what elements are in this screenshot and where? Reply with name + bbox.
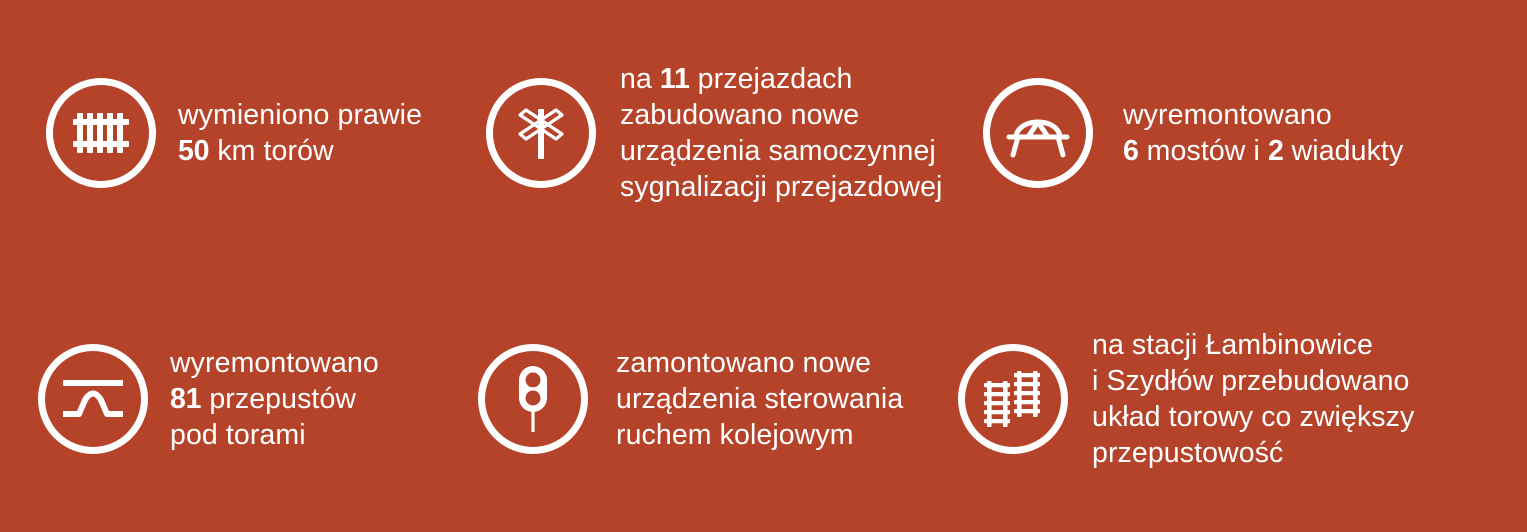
stat-text-part: pod torami (170, 419, 306, 451)
stat-text-part: km torów (209, 135, 333, 167)
stat-line: sygnalizacji przejazdowej (620, 169, 943, 205)
stat-text-part: wiadukty (1284, 135, 1404, 167)
stat-item-station-layout: na stacji Łambinowicei Szydłów przebudow… (958, 266, 1527, 532)
stat-line: przepustowość (1092, 435, 1414, 471)
stat-text-part: na stacji Łambinowice (1092, 329, 1373, 361)
stat-line: urządzenia sterowania (616, 381, 903, 417)
stat-item-culverts: wyremontowano81 przepustówpod torami (0, 266, 468, 532)
stat-text-track-km: wymieniono prawie50 km torów (178, 97, 422, 169)
stat-text-bridges: wyremontowano6 mostów i 2 wiadukty (1123, 97, 1403, 169)
stat-text-part: zamontowano nowe (616, 347, 871, 379)
arch-bridge-icon (983, 78, 1093, 188)
stat-text-part: przejazdach (690, 63, 853, 95)
stat-text-level-crossings: na 11 przejazdachzabudowano noweurządzen… (620, 61, 943, 205)
railway-track-icon (46, 78, 156, 188)
stat-line: zamontowano nowe (616, 345, 903, 381)
stat-text-part: wyremontowano (170, 347, 379, 379)
stat-item-bridges: wyremontowano6 mostów i 2 wiadukty (958, 0, 1527, 266)
stat-line: 6 mostów i 2 wiadukty (1123, 133, 1403, 169)
stat-text-part: urządzenia sterowania (616, 383, 903, 415)
stat-text-part: zabudowano nowe (620, 99, 859, 131)
stat-line: zabudowano nowe (620, 97, 943, 133)
stat-number: 2 (1268, 135, 1284, 167)
stat-line: układ torowy co zwiększy (1092, 399, 1414, 435)
station-track-layout-icon (958, 344, 1068, 454)
stat-line: pod torami (170, 417, 379, 453)
stat-text-part: wymieniono prawie (178, 99, 422, 131)
stat-text-part: i Szydłów przebudowano (1092, 365, 1409, 397)
stat-item-level-crossings: na 11 przejazdachzabudowano noweurządzen… (468, 0, 958, 266)
stat-text-part: przepustów (201, 383, 356, 415)
level-crossing-cross-icon (486, 78, 596, 188)
stat-number: 81 (170, 383, 201, 415)
stat-line: 81 przepustów (170, 381, 379, 417)
stat-item-signalling: zamontowano noweurządzenia sterowaniaruc… (468, 266, 958, 532)
railway-statistics-infographic: wymieniono prawie50 km torów na 11 przej… (0, 0, 1527, 532)
stat-text-part: na (620, 63, 660, 95)
stat-text-part: ruchem kolejowym (616, 419, 854, 451)
culvert-icon (38, 344, 148, 454)
stat-line: urządzenia samoczynnej (620, 133, 943, 169)
stat-text-part: układ torowy co zwiększy (1092, 401, 1414, 433)
stat-text-part: mostów i (1139, 135, 1268, 167)
stat-item-track-km: wymieniono prawie50 km torów (0, 0, 468, 266)
stat-number: 11 (660, 63, 690, 95)
stats-grid: wymieniono prawie50 km torów na 11 przej… (0, 0, 1527, 532)
stat-number: 6 (1123, 135, 1139, 167)
stat-text-part: wyremontowano (1123, 99, 1332, 131)
stat-text-part: sygnalizacji przejazdowej (620, 171, 943, 203)
stat-text-signalling: zamontowano noweurządzenia sterowaniaruc… (616, 345, 903, 453)
stat-line: na 11 przejazdach (620, 61, 943, 97)
stat-line: wyremontowano (170, 345, 379, 381)
stat-line: 50 km torów (178, 133, 422, 169)
stat-line: i Szydłów przebudowano (1092, 363, 1414, 399)
stat-line: na stacji Łambinowice (1092, 327, 1414, 363)
stat-line: wymieniono prawie (178, 97, 422, 133)
stat-line: ruchem kolejowym (616, 417, 903, 453)
stat-text-culverts: wyremontowano81 przepustówpod torami (170, 345, 379, 453)
stat-number: 50 (178, 135, 209, 167)
stat-line: wyremontowano (1123, 97, 1403, 133)
railway-signal-icon (478, 344, 588, 454)
stat-text-part: urządzenia samoczynnej (620, 135, 936, 167)
stat-text-station-layout: na stacji Łambinowicei Szydłów przebudow… (1092, 327, 1414, 471)
stat-text-part: przepustowość (1092, 437, 1283, 469)
